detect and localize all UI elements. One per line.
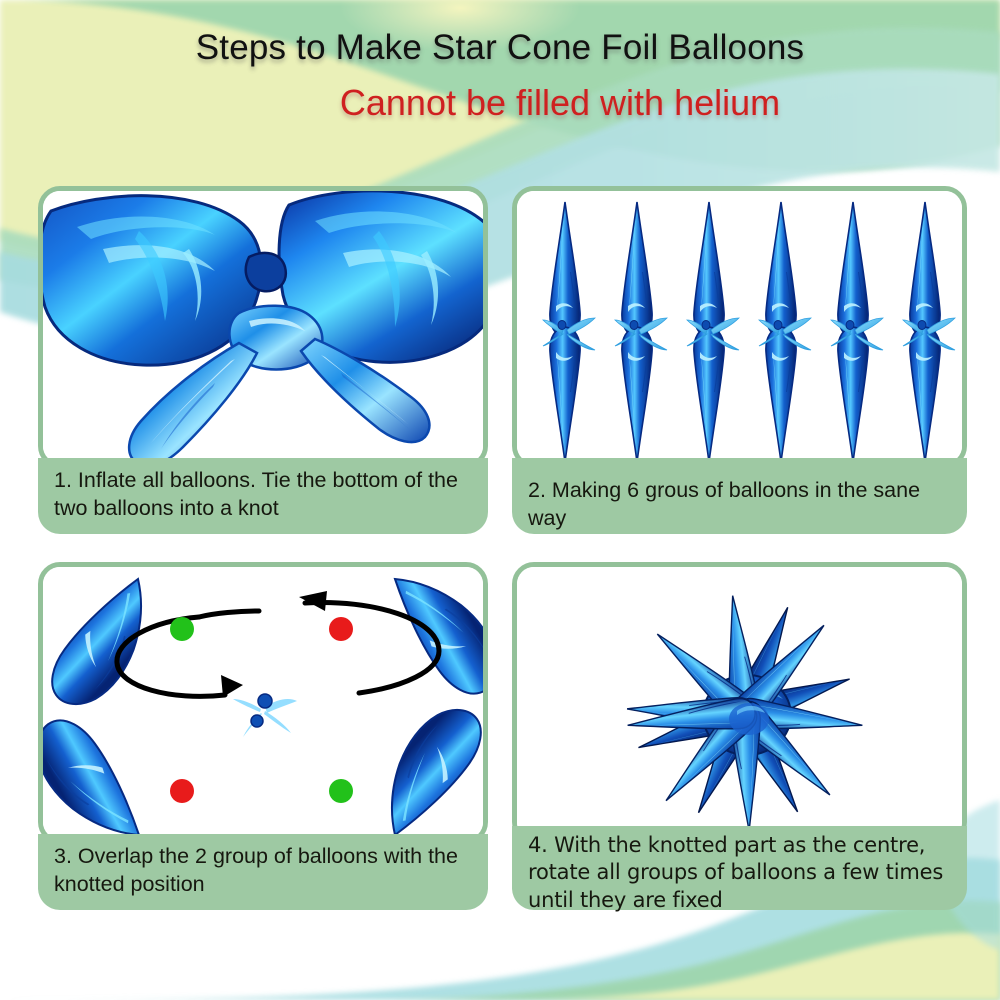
six-groups-of-cone-balloons-photo [517, 191, 967, 468]
step-card-1 [38, 186, 488, 468]
step-caption-4: 4. With the knotted part as the centre, … [512, 826, 967, 910]
finished-star-cone-balloon-photo [517, 567, 967, 844]
step-card-3 [38, 562, 488, 844]
balloon-nub [246, 253, 286, 291]
step-card-4 [512, 562, 967, 844]
step-caption-2: 2. Making 6 grous of balloons in the san… [512, 458, 967, 534]
marker-red-upper-right [329, 617, 353, 641]
marker-green-upper-left [170, 617, 194, 641]
step-caption-1: 1. Inflate all balloons. Tie the bottom … [38, 458, 488, 534]
marker-green-lower-right [329, 779, 353, 803]
header: Steps to Make Star Cone Foil Balloons Ca… [0, 28, 1000, 124]
marker-red-lower-left [170, 779, 194, 803]
helium-warning-text: Cannot be filled with helium [0, 82, 1000, 123]
wave-bottom-yellow [500, 933, 1000, 1000]
overlapped-balloon-groups-rotation-diagram [43, 567, 488, 844]
page-title: Steps to Make Star Cone Foil Balloons [0, 28, 1000, 68]
infographic-page: Steps to Make Star Cone Foil Balloons Ca… [0, 0, 1000, 1000]
step-card-2 [512, 186, 967, 468]
wave-bottom-green [360, 901, 1000, 1000]
step-caption-3: 3. Overlap the 2 group of balloons with … [38, 834, 488, 910]
two-foil-balloons-tied-knot-photo [43, 191, 488, 468]
